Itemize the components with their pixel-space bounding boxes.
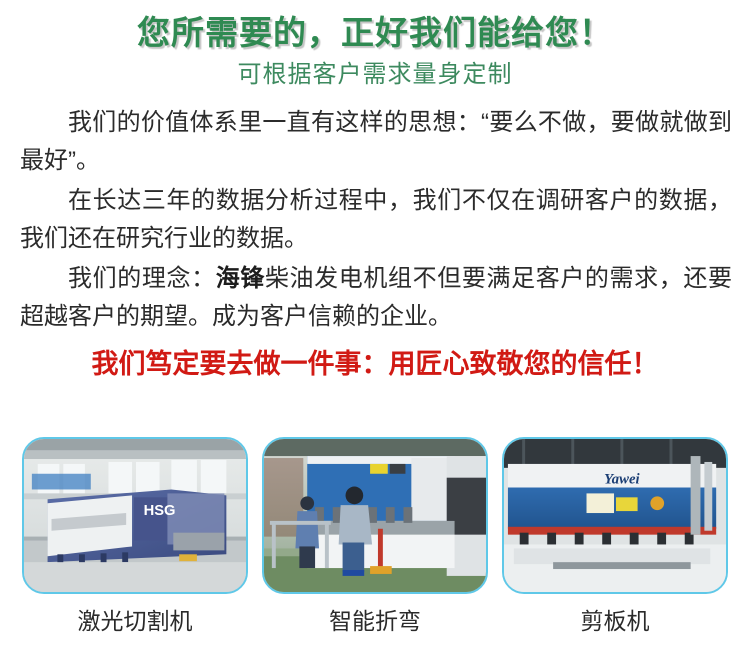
body-copy: 我们的价值体系里一直有这样的思想：“要么不做，要做就做到最好”。 在长达三年的数… [0, 104, 750, 335]
laser-cutting-machine-photo: HSG [22, 437, 248, 594]
card-caption: 智能折弯 [329, 608, 421, 636]
equipment-card[interactable]: Yawei [502, 437, 728, 636]
promo-page: 您所需要的，正好我们能给您！ 可根据客户需求量身定制 我们的价值体系里一直有这样… [0, 0, 750, 661]
svg-text:HSG: HSG [144, 503, 176, 519]
header: 您所需要的，正好我们能给您！ 可根据客户需求量身定制 [0, 0, 750, 90]
equipment-card[interactable]: 智能折弯 [262, 437, 488, 636]
paragraph-values: 我们的价值体系里一直有这样的思想：“要么不做，要做就做到最好”。 [20, 104, 732, 180]
page-headline: 您所需要的，正好我们能给您！ [0, 12, 750, 53]
red-slogan: 我们笃定要去做一件事：用匠心致敬您的信任！ [0, 347, 750, 382]
paragraph-research: 在长达三年的数据分析过程中，我们不仅在调研客户的数据，我们还在研究行业的数据。 [20, 182, 732, 258]
equipment-card-row: HSG 激光切割机 [0, 437, 750, 636]
equipment-card[interactable]: HSG 激光切割机 [22, 437, 248, 636]
card-caption: 剪板机 [581, 608, 650, 636]
press-brake-bending-photo [262, 437, 488, 594]
philosophy-prefix: 我们的理念： [68, 265, 216, 292]
card-caption: 激光切割机 [78, 608, 193, 636]
paragraph-philosophy: 我们的理念：海锋柴油发电机组不但要满足客户的需求，还要超越客户的期望。成为客户信… [20, 260, 732, 336]
brand-name: 海锋 [216, 265, 265, 292]
plate-shearing-machine-photo: Yawei [502, 437, 728, 594]
page-subheadline: 可根据客户需求量身定制 [0, 61, 750, 90]
svg-text:Yawei: Yawei [604, 472, 640, 488]
